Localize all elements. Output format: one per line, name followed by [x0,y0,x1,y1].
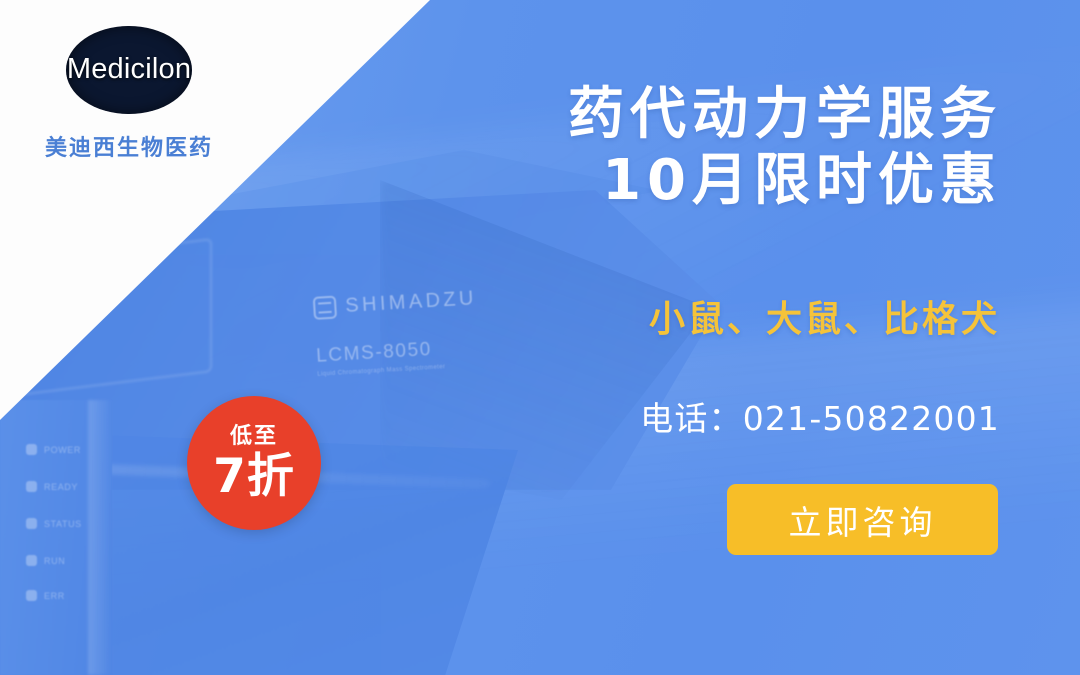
indicator-label: POWER [44,445,81,455]
consult-now-label: 立即咨询 [789,496,937,544]
consult-now-button[interactable]: 立即咨询 [727,484,998,555]
led-icon [26,555,37,566]
discount-badge-prefix: 低至 [230,426,278,448]
shimadzu-logo-icon [313,296,337,320]
headline-line-1: 药代动力学服务 [568,82,1002,148]
instrument-panel-edge [88,400,114,675]
headline-block: 药代动力学服务 10月限时优惠 [568,82,1002,214]
indicator-label: STATUS [44,519,82,529]
discount-badge-value: 7折 [213,453,295,500]
led-icon [26,444,37,455]
led-icon [26,590,37,601]
indicator-label: ERR [44,591,65,601]
subheadline-species: 小鼠、大鼠、比格犬 [649,290,1000,342]
company-name-cn: 美迪西生物医药 [34,130,224,162]
promotional-banner: POWER READY STATUS RUN ERR SHIMADZU LCMS… [0,0,1080,675]
indicator-row-power: POWER [26,444,81,455]
discount-badge: 低至 7折 [187,396,321,530]
headline-line-2: 10月限时优惠 [568,148,1002,214]
logo-wordmark: Medicilon [66,53,192,86]
led-icon [26,518,37,529]
indicator-row-status: STATUS [26,518,82,529]
equipment-branding: SHIMADZU LCMS-8050 Liquid Chromatograph … [313,287,481,378]
indicator-label: READY [44,482,78,492]
indicator-row-error: ERR [26,590,65,601]
company-logo-lockup: Medicilon 美迪西生物医药 [34,26,224,162]
contact-phone: 电话：021-50822001 [640,392,1000,440]
led-icon [26,481,37,492]
indicator-row-run: RUN [26,555,65,566]
indicator-label: RUN [44,556,65,566]
indicator-row-ready: READY [26,481,78,492]
medicilon-logo-icon: Medicilon [66,26,192,114]
